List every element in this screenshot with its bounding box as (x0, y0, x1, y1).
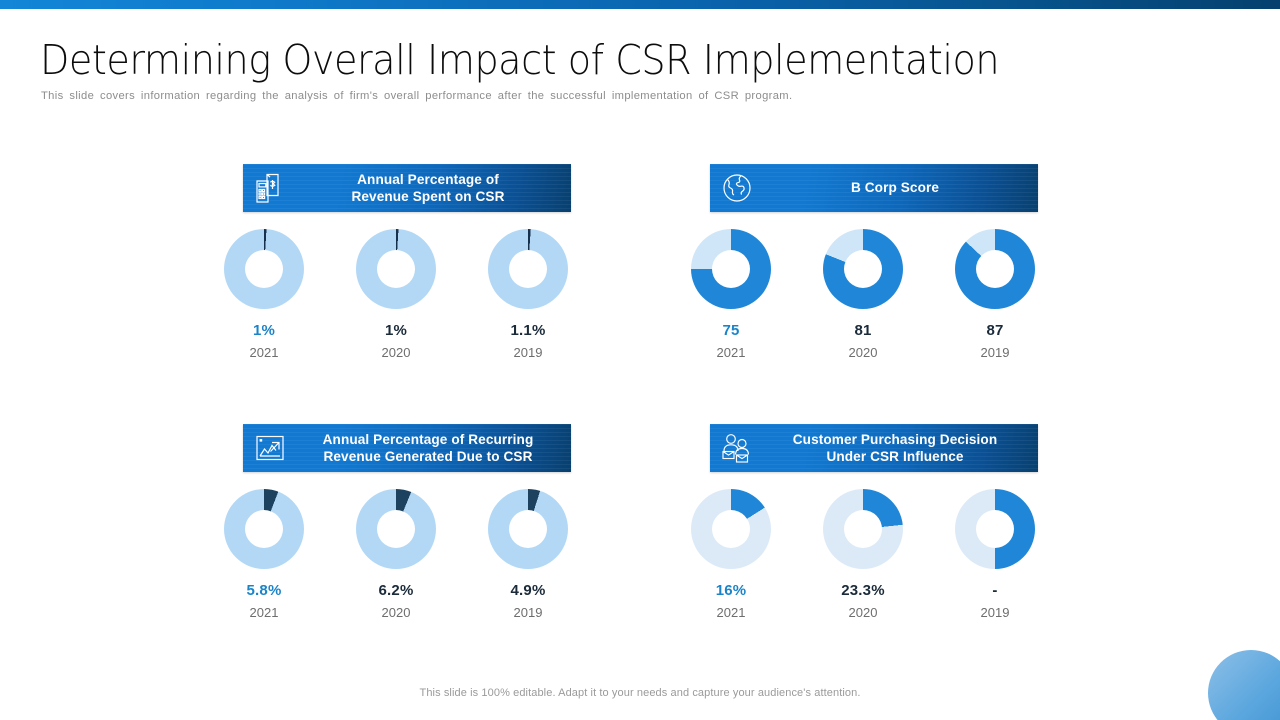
donut-year-label: 2021 (717, 606, 746, 619)
donut-year-label: 2019 (981, 606, 1010, 619)
top-accent-bar (0, 0, 1280, 9)
panel-title: Customer Purchasing Decision Under CSR I… (764, 431, 1038, 466)
donut-chart-group: 1%20211%20201.1%2019 (198, 229, 594, 359)
donut-ring (691, 489, 771, 569)
panel-title-line: B Corp Score (764, 179, 1026, 196)
panel-annual-percentage-revenue-spent-on-csr: Annual Percentage of Revenue Spent on CS… (243, 164, 571, 212)
donut-ring-wrap (356, 229, 436, 309)
globe-icon (710, 172, 764, 204)
donut-value-label: 4.9% (511, 583, 546, 598)
donut-chart: 1.1%2019 (462, 229, 594, 359)
donut-year-label: 2021 (250, 606, 279, 619)
donut-value-label: 1% (253, 323, 275, 338)
donut-ring (224, 489, 304, 569)
donut-year-label: 2019 (514, 606, 543, 619)
donut-year-label: 2020 (382, 346, 411, 359)
donut-ring-wrap (488, 229, 568, 309)
donut-year-label: 2021 (250, 346, 279, 359)
donut-chart-group: 5.8%20216.2%20204.9%2019 (198, 489, 594, 619)
donut-value-label: 81 (854, 323, 871, 338)
donut-value-label: 5.8% (247, 583, 282, 598)
slide-canvas: Determining Overall Impact of CSR Implem… (0, 0, 1280, 720)
page-subtitle: This slide covers information regarding … (41, 90, 792, 102)
panel-title: Annual Percentage of Recurring Revenue G… (297, 431, 571, 466)
panel-header[interactable]: Annual Percentage of Recurring Revenue G… (243, 424, 571, 472)
donut-chart: 1%2020 (330, 229, 462, 359)
donut-year-label: 2020 (382, 606, 411, 619)
donut-value-label: 1.1% (511, 323, 546, 338)
donut-ring (224, 229, 304, 309)
donut-year-label: 2020 (849, 606, 878, 619)
panel-title-line: Under CSR Influence (764, 448, 1026, 465)
donut-ring-wrap (823, 489, 903, 569)
donut-ring (488, 489, 568, 569)
donut-ring (823, 229, 903, 309)
donut-ring-wrap (955, 489, 1035, 569)
donut-value-label: 87 (986, 323, 1003, 338)
donut-ring-wrap (691, 489, 771, 569)
panel-header[interactable]: Annual Percentage of Revenue Spent on CS… (243, 164, 571, 212)
donut-chart: 752021 (665, 229, 797, 359)
donut-chart-group: 16%202123.3%2020-2019 (665, 489, 1061, 619)
donut-chart: 16%2021 (665, 489, 797, 619)
donut-year-label: 2019 (981, 346, 1010, 359)
panel-title-line: Revenue Generated Due to CSR (297, 448, 559, 465)
panel-header[interactable]: B Corp Score (710, 164, 1038, 212)
panel-title-line: Revenue Spent on CSR (297, 188, 559, 205)
panel-annual-percentage-recurring-revenue-due-to-csr: Annual Percentage of Recurring Revenue G… (243, 424, 571, 472)
donut-chart: 812020 (797, 229, 929, 359)
donut-value-label: 6.2% (379, 583, 414, 598)
donut-chart: 1%2021 (198, 229, 330, 359)
donut-value-label: - (992, 583, 997, 598)
donut-ring (488, 229, 568, 309)
corner-decoration-circle (1208, 650, 1280, 720)
donut-ring-wrap (224, 489, 304, 569)
donut-ring (823, 489, 903, 569)
donut-chart: -2019 (929, 489, 1061, 619)
donut-value-label: 16% (716, 583, 747, 598)
donut-ring-wrap (691, 229, 771, 309)
panel-title: B Corp Score (764, 179, 1038, 196)
donut-ring-wrap (955, 229, 1035, 309)
donut-year-label: 2021 (717, 346, 746, 359)
panel-title-line: Annual Percentage of Recurring (297, 431, 559, 448)
donut-ring-wrap (488, 489, 568, 569)
donut-chart: 6.2%2020 (330, 489, 462, 619)
donut-chart: 4.9%2019 (462, 489, 594, 619)
donut-chart-group: 752021812020872019 (665, 229, 1061, 359)
donut-ring (955, 229, 1035, 309)
calculator-invoice-icon (243, 172, 297, 204)
donut-ring (955, 489, 1035, 569)
donut-ring (691, 229, 771, 309)
footer-note: This slide is 100% editable. Adapt it to… (0, 687, 1280, 699)
donut-value-label: 1% (385, 323, 407, 338)
donut-value-label: 75 (722, 323, 739, 338)
page-title: Determining Overall Impact of CSR Implem… (40, 36, 999, 84)
donut-ring (356, 229, 436, 309)
panel-customer-purchasing-decision-under-csr-influence: Customer Purchasing Decision Under CSR I… (710, 424, 1038, 472)
donut-value-label: 23.3% (841, 583, 885, 598)
donut-year-label: 2020 (849, 346, 878, 359)
donut-ring (356, 489, 436, 569)
donut-ring-wrap (356, 489, 436, 569)
panel-title-line: Customer Purchasing Decision (764, 431, 1026, 448)
panel-b-corp-score: B Corp Score 752021812020872019 (710, 164, 1038, 212)
donut-chart: 872019 (929, 229, 1061, 359)
donut-year-label: 2019 (514, 346, 543, 359)
growth-chart-icon (243, 433, 297, 463)
customers-group-icon (710, 432, 764, 464)
donut-ring-wrap (224, 229, 304, 309)
donut-chart: 23.3%2020 (797, 489, 929, 619)
panel-title-line: Annual Percentage of (297, 171, 559, 188)
donut-ring-wrap (823, 229, 903, 309)
panel-title: Annual Percentage of Revenue Spent on CS… (297, 171, 571, 206)
panel-header[interactable]: Customer Purchasing Decision Under CSR I… (710, 424, 1038, 472)
donut-chart: 5.8%2021 (198, 489, 330, 619)
